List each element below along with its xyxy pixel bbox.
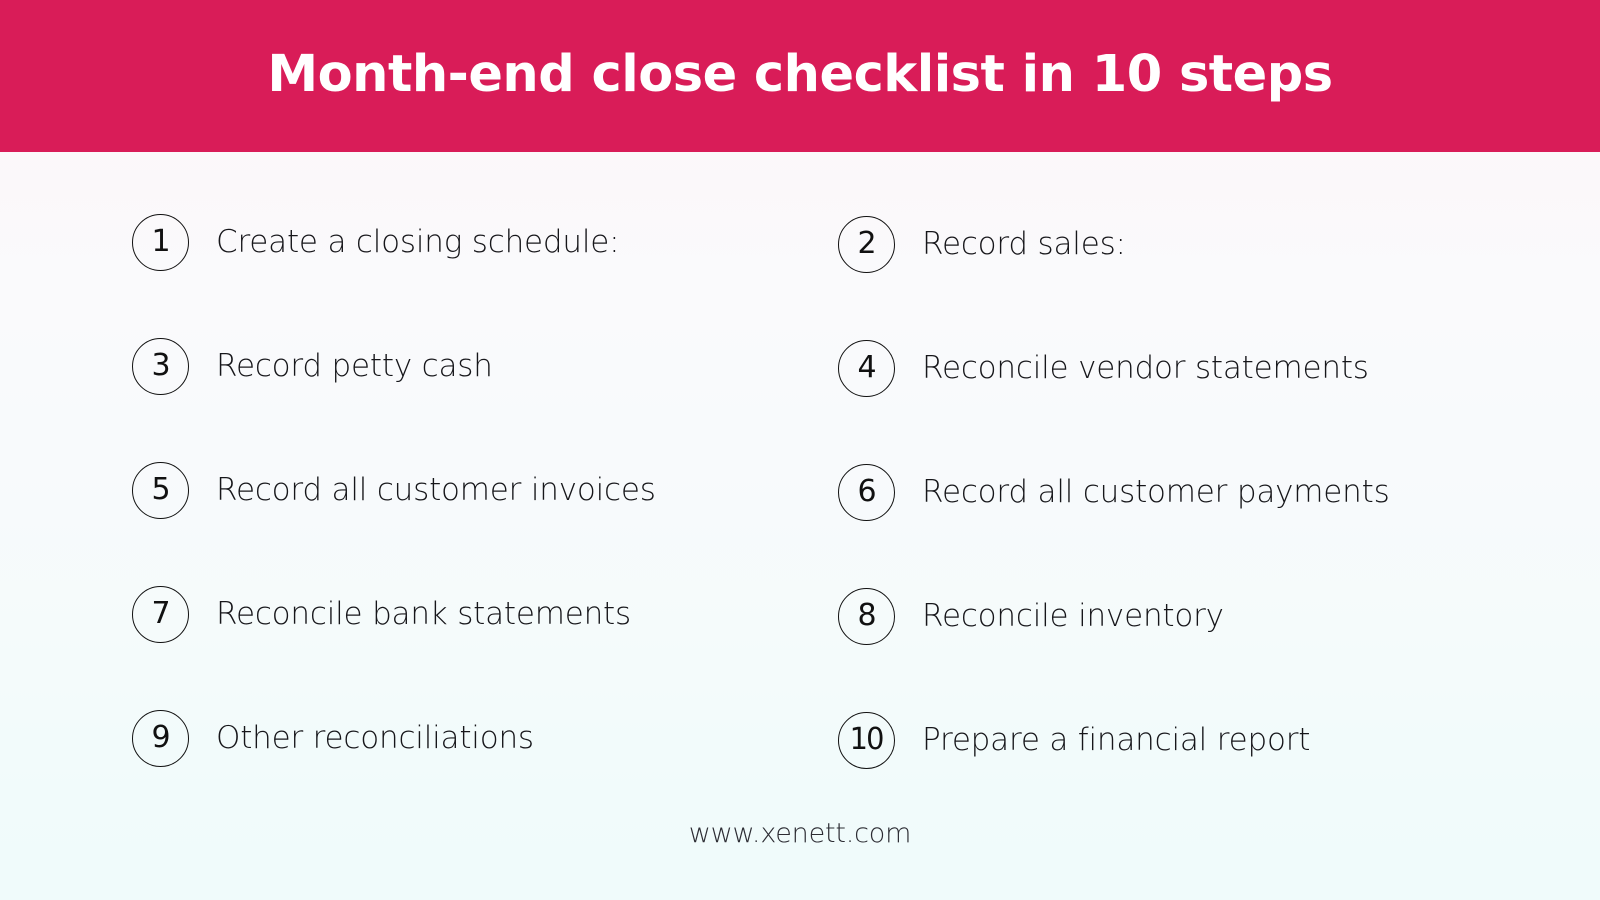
step-number-label: 9 — [151, 723, 169, 753]
step-number-label: 2 — [857, 229, 875, 259]
step-text: Create a closing schedule: — [216, 225, 619, 259]
step-text: Prepare a financial report — [922, 723, 1310, 757]
checklist-item-5: 5 Record all customer invoices — [132, 428, 838, 552]
checklist-item-3: 3 Record petty cash — [132, 304, 838, 428]
step-number-label: 7 — [151, 599, 169, 629]
step-number-badge: 8 — [838, 588, 895, 645]
step-text: Record all customer payments — [922, 475, 1390, 509]
checklist-item-2: 2 Record sales: — [838, 180, 1572, 304]
step-number-badge: 7 — [132, 586, 189, 643]
footer: www.xenett.com — [0, 820, 1600, 847]
step-number-badge: 5 — [132, 462, 189, 519]
step-text: Record petty cash — [216, 349, 493, 383]
step-number-badge: 3 — [132, 338, 189, 395]
step-number-badge: 6 — [838, 464, 895, 521]
checklist-item-6: 6 Record all customer payments — [838, 428, 1572, 552]
step-text: Other reconciliations — [216, 721, 534, 755]
step-number-label: 3 — [151, 351, 169, 381]
checklist-grid: 1 Create a closing schedule: 2 Record sa… — [0, 152, 1600, 792]
step-text: Record sales: — [922, 227, 1126, 261]
step-number-badge: 4 — [838, 340, 895, 397]
step-number-badge: 1 — [132, 214, 189, 271]
checklist-item-8: 8 Reconcile inventory — [838, 552, 1572, 676]
checklist-item-4: 4 Reconcile vendor statements — [838, 304, 1572, 428]
infographic-canvas: Month-end close checklist in 10 steps 1 … — [0, 0, 1600, 900]
step-text: Reconcile bank statements — [216, 597, 631, 631]
page-title: Month-end close checklist in 10 steps — [267, 49, 1332, 104]
step-number-label: 8 — [857, 601, 875, 631]
checklist-item-7: 7 Reconcile bank statements — [132, 552, 838, 676]
step-number-label: 6 — [857, 477, 875, 507]
step-number-label: 5 — [151, 475, 169, 505]
step-text: Record all customer invoices — [216, 473, 656, 507]
step-number-label: 1 — [151, 227, 169, 257]
step-number-label: 4 — [857, 353, 875, 383]
step-number-badge: 2 — [838, 216, 895, 273]
checklist-item-9: 9 Other reconciliations — [132, 676, 838, 800]
step-number-label: 10 — [850, 725, 883, 755]
checklist-item-10: 10 Prepare a financial report — [838, 676, 1572, 800]
checklist-item-1: 1 Create a closing schedule: — [132, 180, 838, 304]
step-text: Reconcile vendor statements — [922, 351, 1369, 385]
step-text: Reconcile inventory — [922, 599, 1224, 633]
step-number-badge: 10 — [838, 712, 895, 769]
header-band: Month-end close checklist in 10 steps — [0, 0, 1600, 152]
website-url: www.xenett.com — [689, 818, 911, 849]
step-number-badge: 9 — [132, 710, 189, 767]
